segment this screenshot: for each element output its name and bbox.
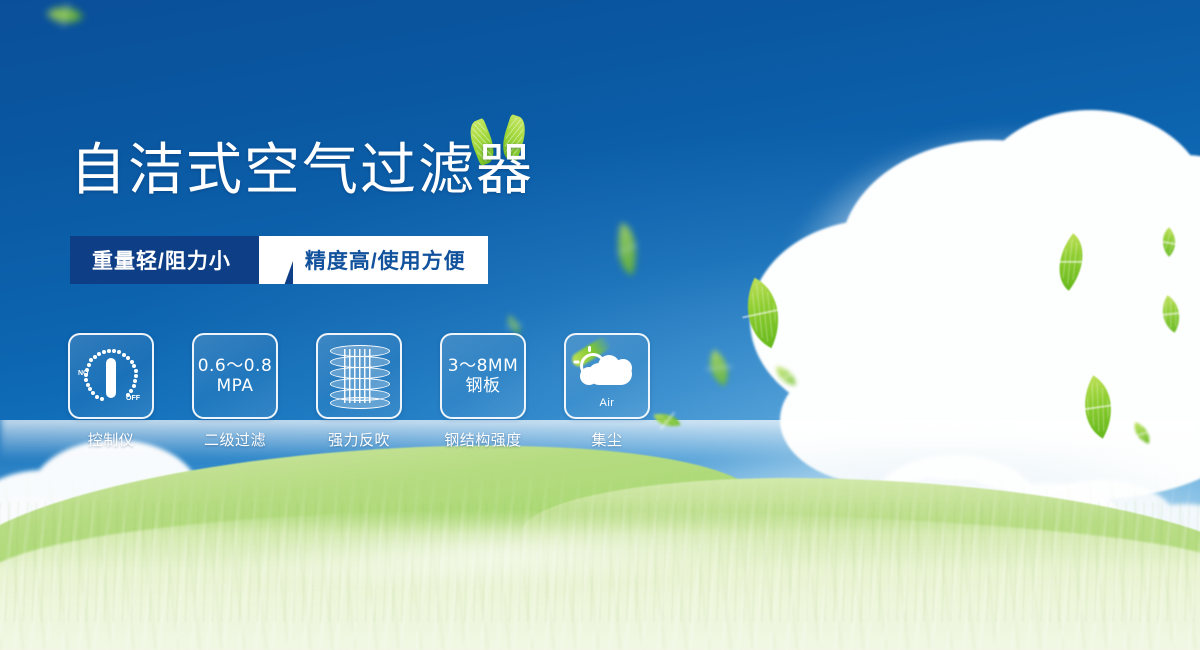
gauge-tick: [102, 350, 106, 354]
gauge-tick: [84, 373, 88, 377]
cloud-air-icon: Air: [574, 347, 640, 405]
feature-label: 强力反吹: [328, 429, 390, 450]
gauge-tick: [112, 349, 116, 353]
gauge-tick: [85, 368, 89, 372]
gauge-tick: [132, 384, 136, 388]
gauge-tick: [132, 364, 136, 368]
pressure-value-icon: 0.6～0.8 MPA: [198, 356, 273, 396]
gauge-tick: [95, 395, 99, 399]
gauge-tick: [130, 360, 134, 364]
subtitle-divider: [259, 236, 293, 284]
gauge-tick: [126, 356, 130, 360]
pressure-line-1: 0.6～0.8: [198, 356, 273, 376]
page-title: 自洁式空气过滤器: [70, 143, 534, 199]
filter-stack-icon: [330, 345, 388, 407]
gauge-tick: [126, 393, 130, 397]
gauge-tick: [107, 349, 111, 353]
feature-item-two-stage-filter[interactable]: 0.6～0.8 MPA 二级过滤: [194, 333, 276, 450]
gauge-tick: [89, 358, 93, 362]
feature-label: 二级过滤: [204, 429, 266, 450]
gauge-tick: [134, 369, 138, 373]
feature-label: 钢结构强度: [444, 429, 522, 450]
subtitle-bar: 重量轻/阻力小 精度高/使用方便: [70, 236, 488, 284]
feature-item-strong-backblow[interactable]: 强力反吹: [318, 333, 400, 450]
feature-icon-box: Air: [564, 333, 650, 419]
air-label: Air: [574, 397, 640, 409]
feature-icon-box: NO OFF: [68, 333, 154, 419]
grass-field: [0, 420, 1200, 650]
gauge-tick: [93, 355, 97, 359]
steel-line-1: 3～8MM: [448, 356, 518, 376]
gauge-tick: [86, 383, 90, 387]
steel-plate-value-icon: 3～8MM 钢板: [448, 356, 518, 396]
gauge-tick: [117, 350, 121, 354]
gauge-tick: [129, 389, 133, 393]
feature-icon-box: [316, 333, 402, 419]
gauge-tick: [97, 352, 101, 356]
gauge-tick: [100, 397, 104, 401]
steel-line-2: 钢板: [448, 376, 518, 396]
feature-list: NO OFF 控制仪 0.6～0.8 MPA 二级过滤: [70, 333, 648, 450]
feature-item-steel-strength[interactable]: 3～8MM 钢板 钢结构强度: [442, 333, 524, 450]
gauge-tick: [87, 363, 91, 367]
feature-icon-box: 3～8MM 钢板: [440, 333, 526, 419]
subtitle-left: 重量轻/阻力小: [70, 236, 259, 284]
feature-label: 集尘: [591, 429, 622, 450]
feature-item-dust-collection[interactable]: Air 集尘: [566, 333, 648, 450]
gauge-tick: [134, 374, 138, 378]
gauge-tick: [84, 378, 88, 382]
gauge-tick: [133, 379, 137, 383]
feature-icon-box: 0.6～0.8 MPA: [192, 333, 278, 419]
feature-label: 控制仪: [88, 429, 135, 450]
pressure-line-2: MPA: [198, 376, 273, 396]
product-banner: 自洁式空气过滤器 重量轻/阻力小 精度高/使用方便 NO OFF 控制仪 0.6…: [0, 0, 1200, 650]
gauge-dial-icon: NO OFF: [78, 346, 144, 406]
subtitle-right: 精度高/使用方便: [293, 236, 488, 284]
feature-item-controller[interactable]: NO OFF 控制仪: [70, 333, 152, 450]
